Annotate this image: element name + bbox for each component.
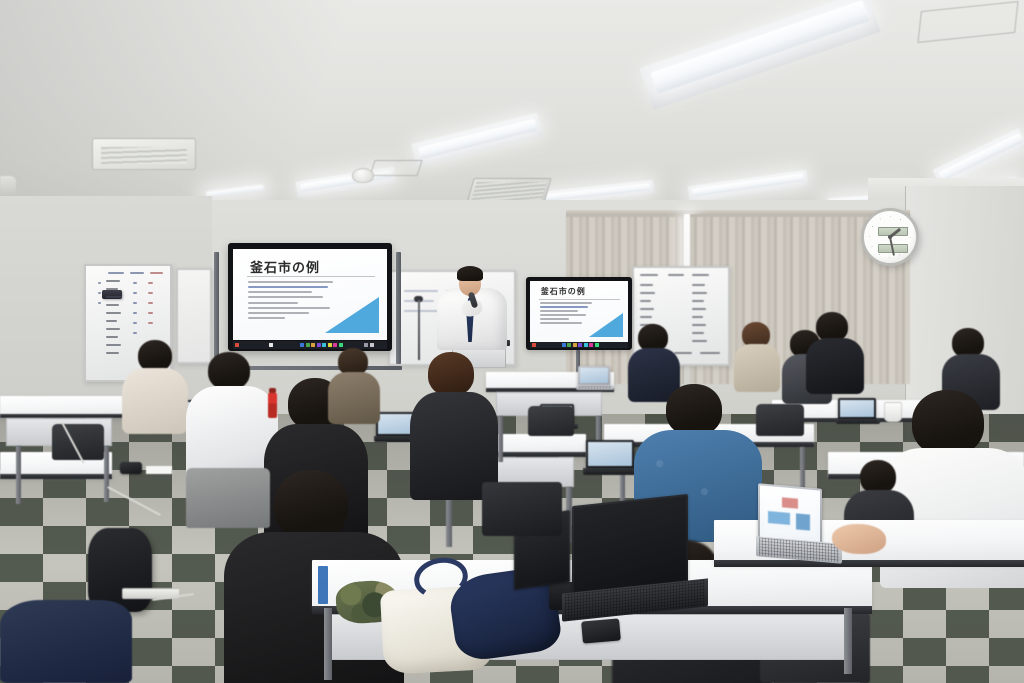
smoke-detector-icon — [352, 168, 374, 183]
taskbar-icon — [364, 343, 368, 347]
desk-leg — [844, 608, 852, 674]
laptop-mid-center[interactable] — [578, 366, 612, 392]
ceiling-vent-outline-2 — [369, 160, 422, 176]
slide-title-secondary: 釜石市の例 — [541, 286, 586, 297]
chair-back-3[interactable] — [528, 406, 574, 436]
taskbar-icon — [300, 343, 304, 347]
taskbar-icon — [573, 343, 577, 347]
display-stand-left — [214, 252, 219, 370]
chair-back-4[interactable] — [756, 404, 804, 436]
ceiling-speaker-icon — [0, 176, 16, 196]
main-display[interactable]: 釜石市の例 — [228, 243, 392, 351]
wall-clock — [861, 208, 919, 266]
taskbar-icon — [333, 343, 337, 347]
laptop-right-row[interactable] — [838, 398, 878, 426]
slide-bullets — [248, 281, 334, 323]
desk-leg — [498, 416, 503, 462]
ceiling-ac-vent — [92, 138, 196, 170]
taskbar-icon — [306, 343, 310, 347]
classroom-scene: 釜石市の例 — [0, 0, 1024, 683]
bag-under-desk — [482, 482, 562, 536]
bottle-cap-icon — [269, 388, 276, 393]
laptop-blue-screen[interactable] — [586, 440, 636, 476]
taskbar-icon — [311, 343, 315, 347]
taskbar-icon — [578, 343, 582, 347]
taskbar-icon — [317, 343, 321, 347]
clock-center-pin — [888, 235, 892, 239]
desk-leg — [104, 446, 109, 502]
display-stand-right — [396, 252, 401, 364]
taskbar-icon — [589, 343, 593, 347]
smartphone[interactable] — [581, 618, 621, 643]
laptop-slide-graphic-blue2 — [796, 513, 810, 530]
desk-leg — [16, 446, 21, 504]
papers-on-left-desk — [146, 466, 172, 474]
mic-stand — [418, 300, 420, 360]
desk-leg — [324, 608, 332, 680]
main-display-taskbar[interactable] — [233, 341, 387, 349]
slide-rule-secondary — [539, 299, 620, 300]
laptop-slide-graphic-blue — [768, 511, 790, 525]
whiteboard-far-left — [176, 268, 212, 364]
slide-title-rule — [247, 276, 375, 277]
taskbar-icon — [532, 343, 536, 347]
chair-back-1[interactable] — [186, 468, 270, 528]
secondary-display[interactable]: 釜石市の例 — [526, 277, 632, 350]
taskbar-icon — [370, 343, 374, 347]
slide-secondary: 釜石市の例 — [530, 281, 628, 342]
taskbar-icon — [235, 343, 239, 347]
bag-under-desk-2 — [0, 600, 132, 683]
slide-bullets-secondary — [540, 302, 595, 326]
typing-hand — [832, 524, 886, 554]
taskbar-icon — [584, 343, 588, 347]
coffee-cup-white[interactable] — [884, 402, 902, 422]
desk-trim-blue — [318, 566, 328, 604]
taskbar-icon — [562, 343, 566, 347]
taskbar-icon — [322, 343, 326, 347]
taskbar-icon — [339, 343, 343, 347]
laptop-slide-graphic-red — [782, 497, 798, 508]
taskbar-icon — [595, 343, 599, 347]
slide-main: 釜石市の例 — [233, 249, 387, 340]
cola-bottle[interactable] — [268, 392, 277, 418]
taskbar-icon — [269, 343, 273, 347]
device-on-left-desk[interactable] — [120, 462, 142, 474]
desk-edge — [714, 560, 1024, 567]
taskbar-icon — [328, 343, 332, 347]
presenter-hair — [457, 266, 483, 281]
slide-title: 釜石市の例 — [250, 257, 320, 276]
secondary-display-taskbar[interactable] — [530, 342, 628, 348]
taskbar-icon — [567, 343, 571, 347]
